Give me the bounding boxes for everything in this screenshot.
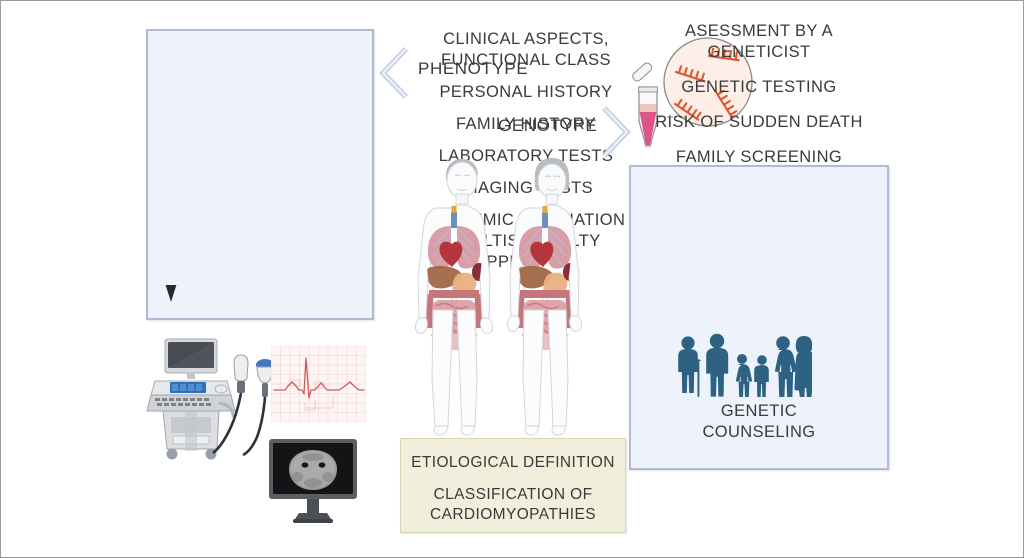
- genotype-item-3: FAMILY SCREENING: [637, 147, 881, 168]
- human-anatomy-figures-illustration: [406, 158, 606, 438]
- genotype-flow-label: GENOTYPE: [498, 116, 597, 136]
- ultrasound-machine-illustration: [141, 333, 281, 463]
- genotype-item-1: GENETIC TESTING: [637, 77, 881, 98]
- genotype-item-list: ASESSMENT BY A GENETICIST GENETIC TESTIN…: [637, 21, 881, 182]
- phenotype-flow-label: PHENOTYPE: [418, 59, 528, 79]
- etiology-item-list: ETIOLOGICAL DEFINITION CLASSIFICATION OF…: [400, 453, 626, 537]
- genotype-item-2: RISK OF SUDDEN DEATH: [637, 112, 881, 133]
- genetic-counseling-label: GENETIC COUNSELING: [629, 401, 889, 443]
- genotype-item-0: ASESSMENT BY A GENETICIST: [637, 21, 881, 63]
- mri-scan-monitor-illustration: [267, 435, 359, 527]
- ecg-waveform-illustration: [271, 346, 366, 422]
- chevron-left-icon: [375, 45, 415, 101]
- etiology-item-1: CLASSIFICATION OF CARDIOMYOPATHIES: [400, 485, 626, 525]
- diagram-canvas: CLINICAL ASPECTS, FUNCTIONAL CLASS PERSO…: [0, 0, 1024, 558]
- etiology-item-0: ETIOLOGICAL DEFINITION: [400, 453, 626, 473]
- family-group-icon: [672, 333, 812, 399]
